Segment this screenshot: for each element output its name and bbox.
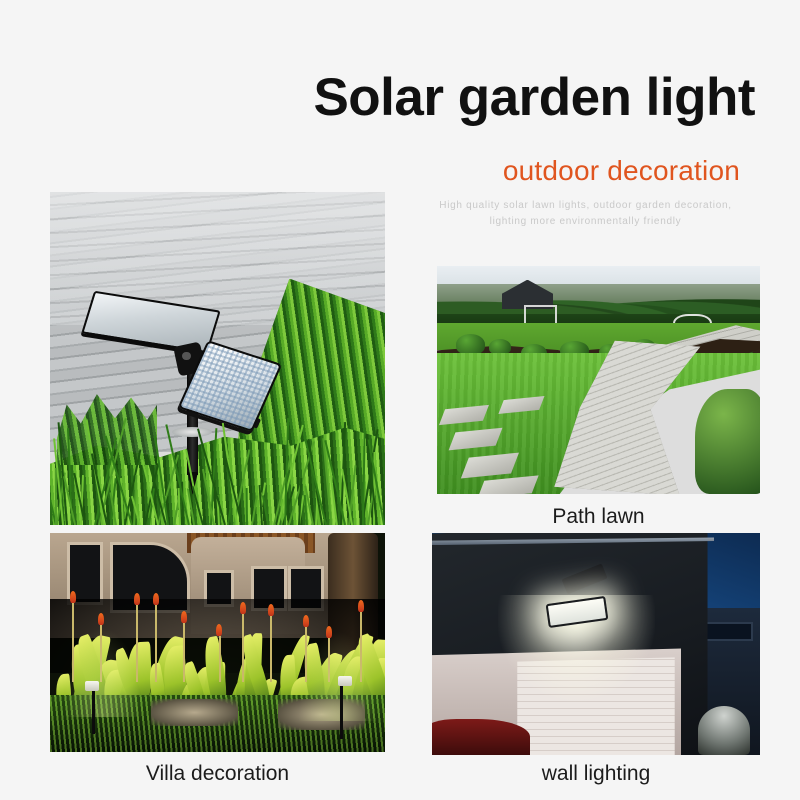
- villa-decoration-photo: [50, 533, 385, 752]
- red-car: [432, 719, 530, 755]
- path-lawn-photo: [437, 266, 760, 494]
- product-marketing-page: Solar garden light outdoor decoration Hi…: [0, 0, 800, 800]
- wall-lighting-photo: [432, 533, 760, 755]
- adjacent-window: [704, 622, 754, 642]
- spike-pole-left: [92, 686, 95, 734]
- caption-villa-decoration: Villa decoration: [50, 762, 385, 786]
- gravel-patch-left: [151, 699, 238, 725]
- caption-path-lawn: Path lawn: [437, 505, 760, 529]
- spike-lamp-right: [338, 676, 352, 686]
- path-lawn-scene: [437, 266, 760, 494]
- page-subtitle: outdoor decoration: [503, 155, 740, 187]
- spike-pole-right: [340, 682, 343, 739]
- pergola-frame: [524, 305, 557, 325]
- joint-screw: [182, 352, 191, 361]
- page-title: Solar garden light: [313, 70, 755, 126]
- caption-wall-lighting: wall lighting: [432, 762, 760, 786]
- light-stake-base: [172, 427, 212, 437]
- wall-lighting-scene: [432, 533, 760, 755]
- hero-product-photo: [50, 192, 385, 525]
- light-beam-left: [63, 627, 143, 717]
- page-description: High quality solar lawn lights, outdoor …: [428, 198, 743, 230]
- right-shrub: [695, 389, 760, 494]
- ornamental-plant: [698, 706, 750, 755]
- spike-lamp-left: [85, 681, 99, 691]
- villa-scene: [50, 533, 385, 752]
- hero-scene: [50, 192, 385, 525]
